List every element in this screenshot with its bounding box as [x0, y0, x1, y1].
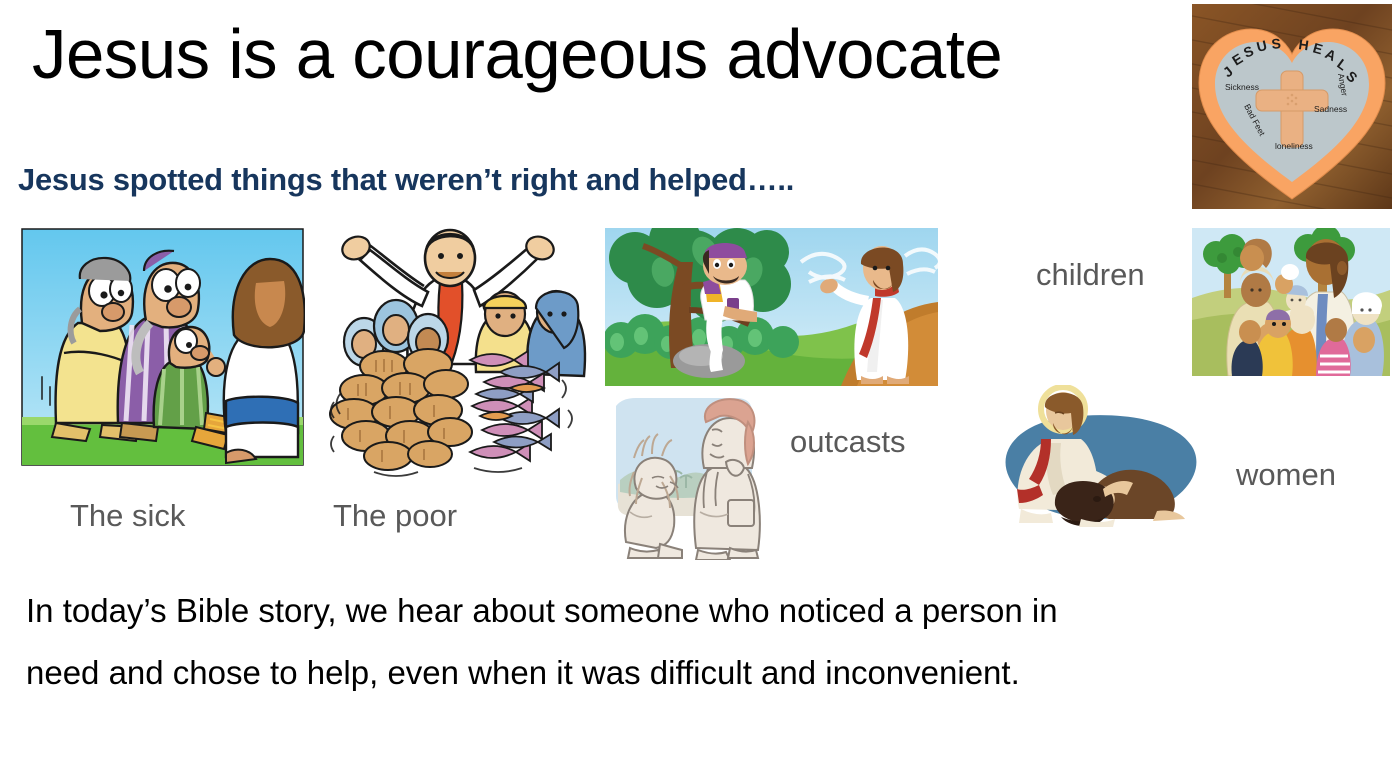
label-outcasts: outcasts: [790, 424, 905, 460]
jesus-heals-heart-craft-image: J E S U S H E A L S: [1192, 4, 1392, 209]
children-image: [1192, 228, 1390, 376]
the-sick-image: [20, 227, 305, 467]
slide-canvas: Jesus is a courageous advocate Jesus spo…: [0, 0, 1400, 781]
label-the-poor: The poor: [333, 498, 457, 534]
svg-text:Sadness: Sadness: [1314, 104, 1347, 114]
zacchaeus-in-tree-image: [605, 228, 938, 386]
outcasts-image: [600, 392, 790, 560]
body-paragraph: In today’s Bible story, we hear about so…: [26, 580, 1376, 704]
women-image: [985, 385, 1215, 537]
label-women: women: [1236, 457, 1336, 493]
label-the-sick: The sick: [70, 498, 185, 534]
body-line-2: need and chose to help, even when it was…: [26, 642, 1376, 704]
the-poor-image: [324, 224, 594, 479]
page-title: Jesus is a courageous advocate: [32, 14, 1135, 96]
subtitle: Jesus spotted things that weren’t right …: [18, 160, 1202, 202]
svg-text:loneliness: loneliness: [1275, 141, 1313, 151]
label-children: children: [1036, 257, 1145, 293]
svg-text:Sickness: Sickness: [1225, 82, 1259, 92]
svg-text:S: S: [1271, 35, 1282, 52]
body-line-1: In today’s Bible story, we hear about so…: [26, 580, 1376, 642]
